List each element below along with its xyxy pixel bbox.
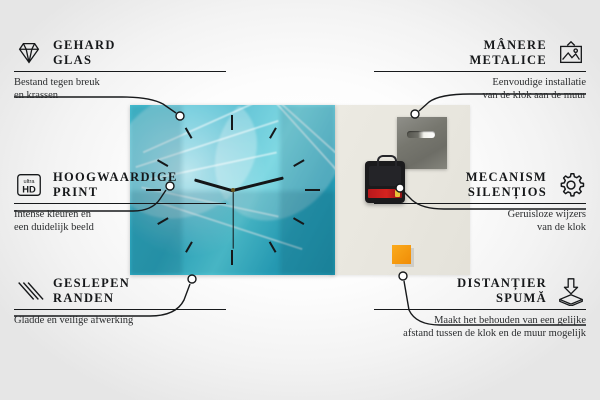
metal-hanger: [397, 117, 447, 169]
callout-distantier-spuma[interactable]: DISTANȚIERSPUMĂ Maakt het behouden van e…: [374, 276, 586, 340]
callout-subtitle: Intense kleuren eneen duidelijk beeld: [14, 208, 226, 234]
callout-manere-metalice[interactable]: MÂNEREMETALICE Eenvoudige installatievan…: [374, 38, 586, 102]
spacer-press-icon: [556, 276, 586, 306]
picture-hook-icon: [556, 38, 586, 68]
callout-divider: [374, 71, 586, 72]
hanger-keyhole-slot: [407, 131, 435, 138]
clock-center-pin: [231, 188, 235, 192]
callout-title: MÂNEREMETALICE: [469, 38, 547, 68]
ultra-hd-icon: ultra HD: [14, 170, 44, 200]
callout-divider: [374, 203, 586, 204]
mechanism-hanging-loop: [377, 155, 397, 166]
callout-hoogwaardige-print[interactable]: ultra HD HOOGWAARDIGEPRINT Intense kleur…: [14, 170, 226, 234]
callout-title: GEHARDGLAS: [53, 38, 116, 68]
callout-subtitle: Eenvoudige installatievan de klok aan de…: [374, 76, 586, 102]
callout-gehard-glas[interactable]: GEHARDGLAS Bestand tegen breuken krassen: [14, 38, 226, 102]
callout-mecanism-silentios[interactable]: MECANISMSILENȚIOS Geruisloze wijzersvan …: [374, 170, 586, 234]
foam-spacer: [392, 245, 411, 264]
callout-title: GESLEPENRANDEN: [53, 276, 130, 306]
svg-text:HD: HD: [22, 185, 36, 195]
callout-subtitle: Maakt het behouden van een gelijkeafstan…: [330, 314, 586, 340]
callout-subtitle: Geruisloze wijzersvan de klok: [374, 208, 586, 234]
callout-divider: [374, 309, 586, 310]
callout-header: DISTANȚIERSPUMĂ: [374, 276, 586, 306]
callout-divider: [14, 203, 226, 204]
callout-divider: [14, 309, 226, 310]
callout-header: MÂNEREMETALICE: [374, 38, 586, 68]
infographic-canvas: GEHARDGLAS Bestand tegen breuken krassen…: [0, 0, 600, 400]
callout-subtitle: Bestand tegen breuken krassen: [14, 76, 226, 102]
callout-header: ultra HD HOOGWAARDIGEPRINT: [14, 170, 226, 200]
callout-geslepen-randen[interactable]: GESLEPENRANDEN Gladde en veilige afwerki…: [14, 276, 226, 327]
callout-title: HOOGWAARDIGEPRINT: [53, 170, 178, 200]
callout-title: DISTANȚIERSPUMĂ: [457, 276, 547, 306]
clock-second-hand: [232, 190, 233, 248]
callout-header: GEHARDGLAS: [14, 38, 226, 68]
callout-header: GESLEPENRANDEN: [14, 276, 226, 306]
callout-subtitle: Gladde en veilige afwerking: [14, 314, 226, 327]
gear-icon: [556, 170, 586, 200]
callout-title: MECANISMSILENȚIOS: [466, 170, 547, 200]
diagonal-lines-icon: [14, 276, 44, 306]
diamond-icon: [14, 38, 44, 68]
callout-divider: [14, 71, 226, 72]
callout-header: MECANISMSILENȚIOS: [374, 170, 586, 200]
